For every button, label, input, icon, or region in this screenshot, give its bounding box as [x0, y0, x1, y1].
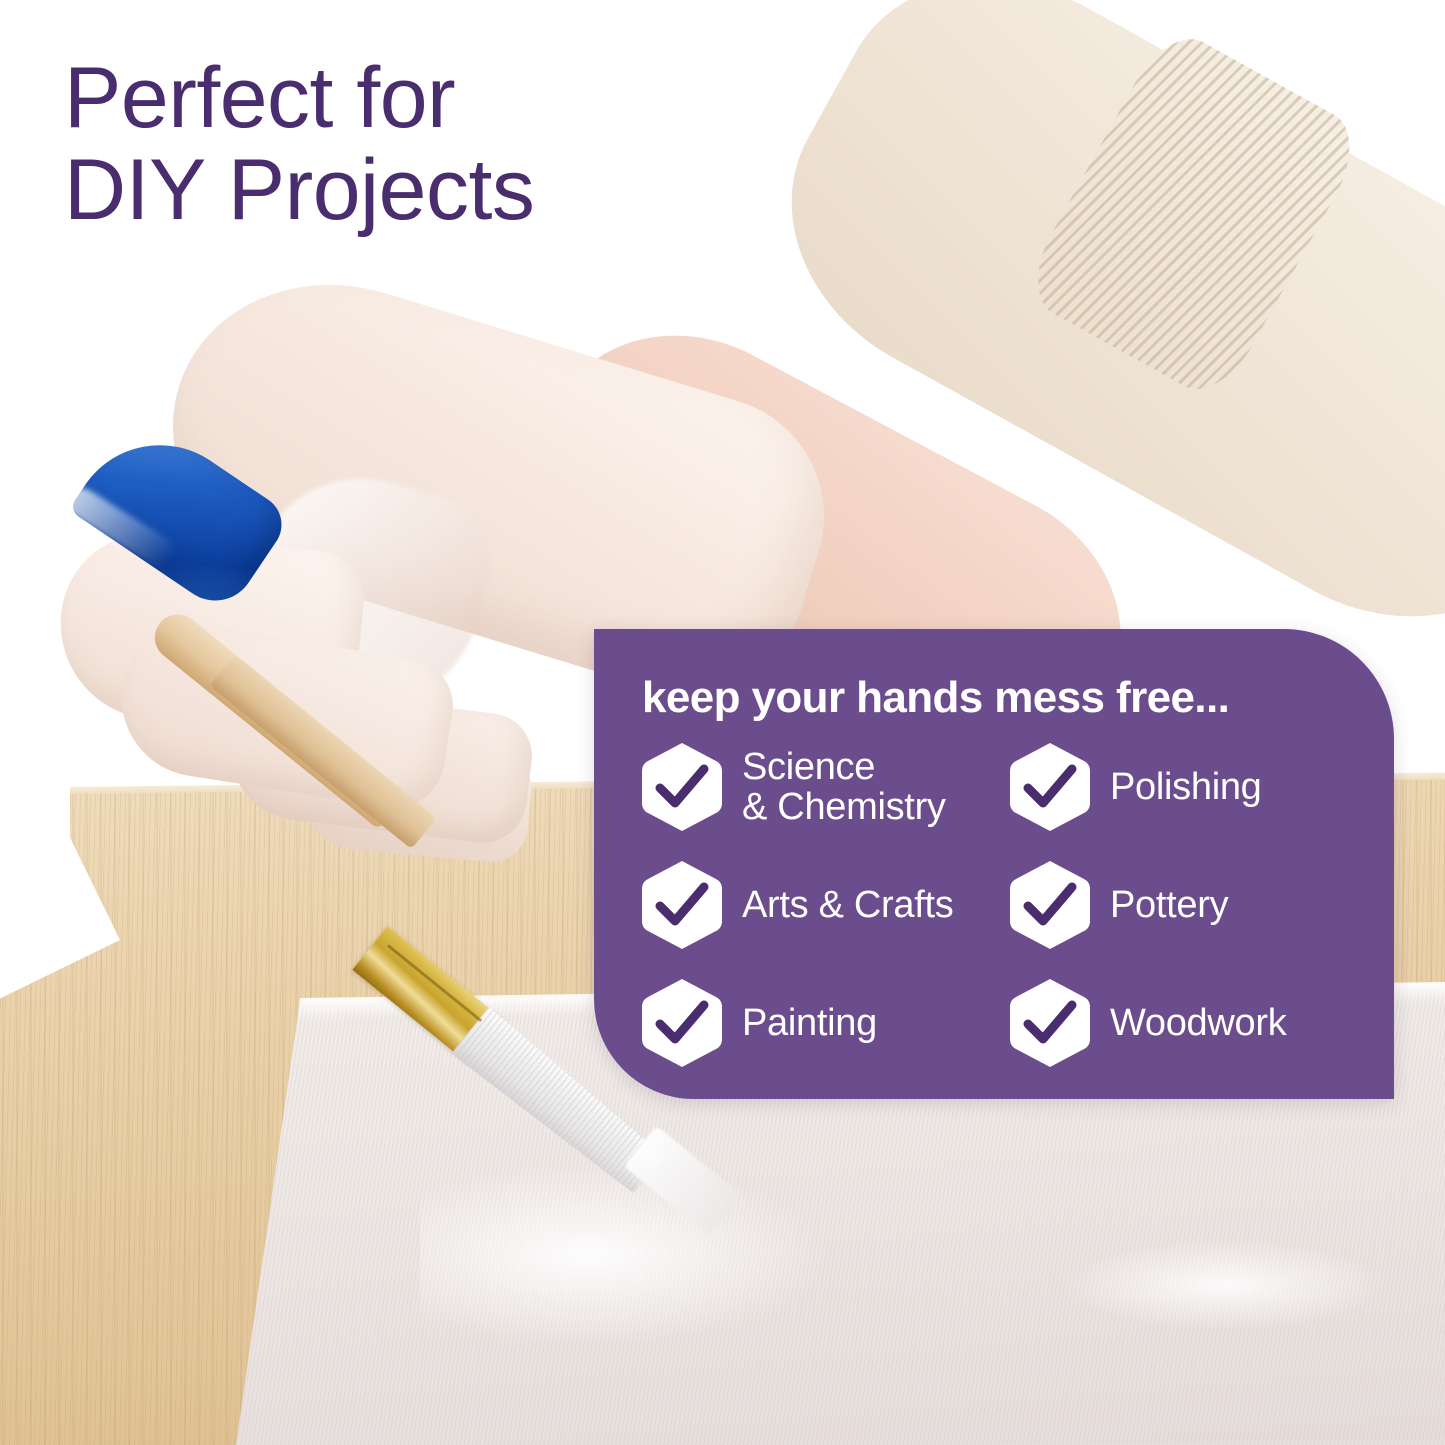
feature-label: Woodwork — [1110, 1003, 1286, 1043]
feature-label: Polishing — [1110, 767, 1262, 807]
feature-label: Arts & Crafts — [742, 885, 953, 925]
feature-label: Pottery — [1110, 885, 1228, 925]
feature-item-painting: Painting — [640, 977, 988, 1069]
feature-item-woodwork: Woodwork — [1008, 977, 1356, 1069]
headline: Perfect for DIY Projects — [64, 52, 684, 236]
feature-columns: Science & Chemistry Arts & Crafts — [640, 741, 1356, 1069]
feature-column-left: Science & Chemistry Arts & Crafts — [640, 741, 988, 1069]
check-icon — [1008, 977, 1092, 1069]
panel-title: keep your hands mess free... — [642, 673, 1229, 723]
feature-item-pottery: Pottery — [1008, 859, 1356, 951]
feature-item-science-chemistry: Science & Chemistry — [640, 741, 988, 833]
check-icon — [640, 741, 724, 833]
feature-item-polishing: Polishing — [1008, 741, 1356, 833]
check-icon — [1008, 741, 1092, 833]
feature-label: Science & Chemistry — [742, 747, 946, 828]
feature-label: Painting — [742, 1003, 877, 1043]
check-icon — [640, 977, 724, 1069]
feature-panel: keep your hands mess free... Science & C… — [594, 629, 1394, 1099]
board-corner-mask-2 — [0, 730, 70, 860]
product-marketing-image: Perfect for DIY Projects keep your hands… — [0, 0, 1445, 1445]
feature-item-arts-crafts: Arts & Crafts — [640, 859, 988, 951]
check-icon — [1008, 859, 1092, 951]
paint-fleck — [1060, 1240, 1390, 1330]
check-icon — [640, 859, 724, 951]
feature-column-right: Polishing Pottery — [1008, 741, 1356, 1069]
